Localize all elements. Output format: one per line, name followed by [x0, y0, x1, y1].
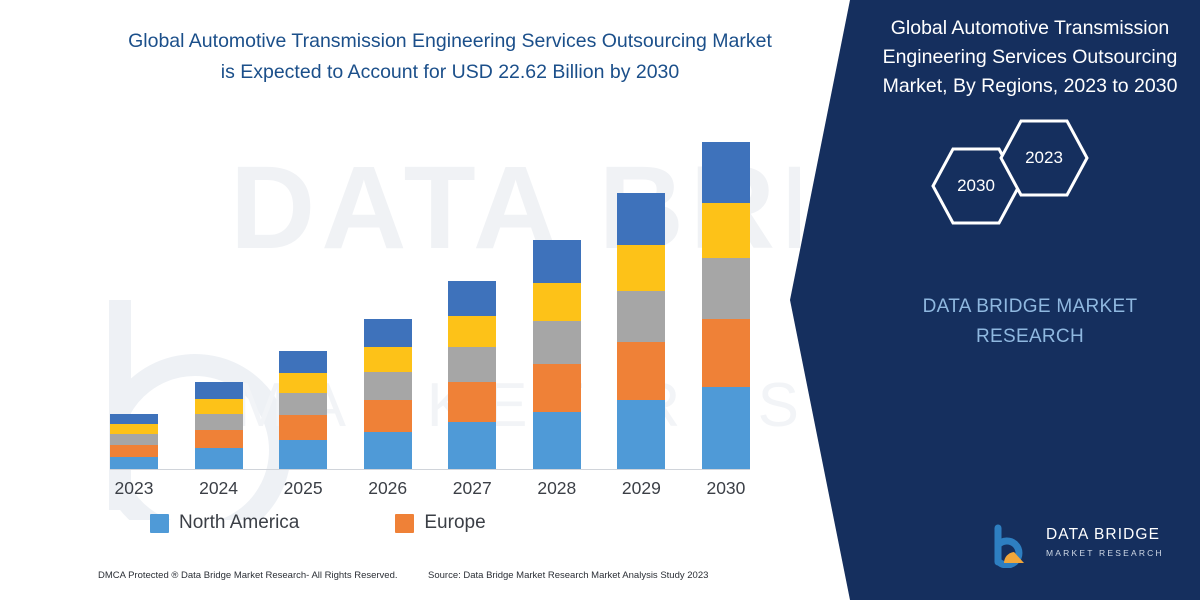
bar-segment: [279, 393, 327, 415]
bar-column: [702, 142, 750, 470]
x-tick-label: 2030: [702, 478, 750, 499]
bar-segment: [702, 258, 750, 319]
legend-item: Europe: [395, 512, 485, 534]
bar-segment: [195, 430, 243, 448]
x-tick-label: 2027: [448, 478, 496, 499]
x-tick-label: 2028: [533, 478, 581, 499]
x-axis-tick-labels: 20232024202520262027202820292030: [110, 478, 750, 499]
bar-segment: [617, 193, 665, 244]
brand-text-line1: DATA BRIDGE MARKET: [880, 292, 1180, 322]
bar-segment: [110, 414, 158, 425]
bar-segment: [617, 342, 665, 400]
bar-segment: [279, 373, 327, 393]
bar-segment: [279, 415, 327, 440]
bar-column: [533, 240, 581, 470]
bar-segment: [448, 316, 496, 347]
footer-source: Source: Data Bridge Market Research Mark…: [428, 570, 708, 581]
bar-segment: [448, 382, 496, 422]
hexagon-2023: 2023: [998, 118, 1090, 198]
bar-segment: [617, 291, 665, 342]
bar-segment: [195, 399, 243, 414]
dbmr-bridge-logo-icon: [990, 522, 1036, 568]
legend-swatch: [150, 514, 169, 533]
bar-segment: [448, 347, 496, 382]
bar-segment: [702, 319, 750, 387]
bar-segment: [279, 351, 327, 373]
bar-column: [195, 382, 243, 470]
legend-label: North America: [179, 512, 299, 534]
bar-column: [448, 281, 496, 470]
legend-item: North America: [150, 512, 299, 534]
bar-segment: [617, 245, 665, 291]
x-axis-line: [110, 469, 750, 470]
bar-segment: [533, 321, 581, 364]
plot-region: [110, 130, 750, 470]
bar-segment: [110, 457, 158, 470]
bar-segment: [617, 400, 665, 470]
bar-segment: [195, 382, 243, 399]
dbmr-logo-line1: DATA BRIDGE: [1046, 526, 1164, 544]
bar-segment: [533, 283, 581, 321]
chart-area: DATA BRIDGE MARKET RESEARCH Global Autom…: [0, 0, 800, 600]
chart-legend: North AmericaEurope: [150, 512, 710, 534]
bar-segment: [533, 364, 581, 412]
bar-segment: [364, 319, 412, 347]
x-tick-label: 2025: [279, 478, 327, 499]
chart-title: Global Automotive Transmission Engineeri…: [120, 26, 780, 88]
x-tick-label: 2024: [195, 478, 243, 499]
legend-swatch: [395, 514, 414, 533]
x-tick-label: 2026: [364, 478, 412, 499]
bar-segment: [195, 414, 243, 431]
bar-segment: [533, 240, 581, 283]
bar-column: [279, 351, 327, 470]
bar-segment: [110, 424, 158, 434]
footer-copyright: DMCA Protected ® Data Bridge Market Rese…: [98, 570, 398, 581]
x-tick-label: 2023: [110, 478, 158, 499]
brand-text-line2: RESEARCH: [880, 322, 1180, 352]
bar-segment: [702, 203, 750, 258]
bar-segment: [110, 445, 158, 457]
bar-segment: [110, 434, 158, 445]
bar-column: [110, 414, 158, 470]
bar-column: [617, 193, 665, 470]
bar-column: [364, 319, 412, 470]
bar-segment: [364, 400, 412, 431]
dbmr-logo: DATA BRIDGE MARKET RESEARCH: [990, 520, 1190, 576]
x-tick-label: 2029: [617, 478, 665, 499]
bar-segment: [448, 422, 496, 470]
bar-segment: [364, 372, 412, 400]
right-panel-title: Global Automotive Transmission Engineeri…: [870, 14, 1190, 101]
legend-label: Europe: [424, 512, 485, 534]
bars-container: [110, 130, 750, 470]
dbmr-logo-text: DATA BRIDGE MARKET RESEARCH: [1046, 526, 1164, 558]
bar-segment: [195, 448, 243, 470]
bar-segment: [279, 440, 327, 470]
bar-segment: [364, 432, 412, 470]
dbmr-logo-line2: MARKET RESEARCH: [1046, 548, 1164, 558]
bar-segment: [364, 347, 412, 372]
bar-segment: [702, 387, 750, 470]
bar-segment: [702, 142, 750, 203]
hexagon-2023-label: 2023: [998, 118, 1090, 198]
brand-text: DATA BRIDGE MARKET RESEARCH: [880, 292, 1180, 352]
bar-segment: [448, 281, 496, 316]
infographic-page: DATA BRIDGE MARKET RESEARCH Global Autom…: [0, 0, 1200, 600]
bar-segment: [533, 412, 581, 470]
hexagon-badges: 2030 2023: [930, 118, 1120, 228]
